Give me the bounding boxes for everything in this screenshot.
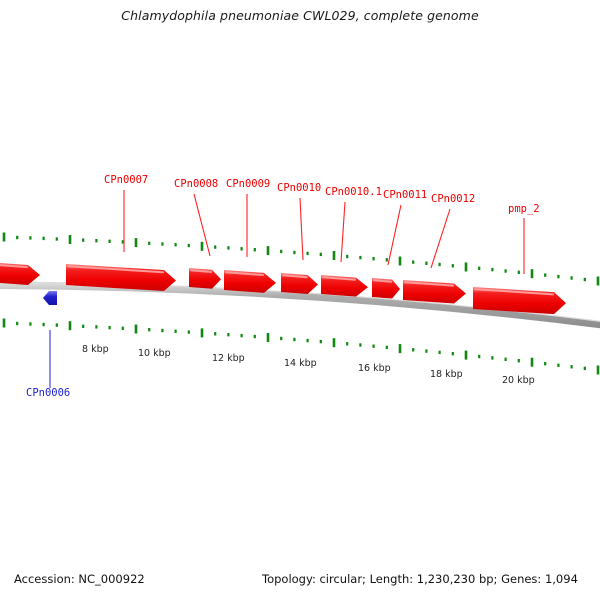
tick-minor: [214, 245, 216, 248]
tick-major: [597, 277, 600, 286]
gene-leader-line: [388, 205, 401, 265]
tick-minor: [254, 248, 256, 251]
tick-minor: [452, 264, 454, 267]
tick-minor: [505, 358, 507, 361]
tick-minor: [557, 275, 559, 278]
genome-map-canvas: Chlamydophila pneumoniae CWL029, complet…: [0, 0, 600, 600]
footer-metadata: Topology: circular; Length: 1,230,230 bp…: [262, 572, 578, 586]
tick-minor: [43, 237, 45, 240]
tick-minor: [544, 362, 546, 365]
tick-major: [267, 246, 270, 255]
tick-minor: [280, 250, 282, 253]
tick-minor: [320, 340, 322, 343]
tick-major: [267, 333, 270, 342]
tick-minor: [122, 327, 124, 330]
tick-minor: [584, 278, 586, 281]
tick-minor: [241, 247, 243, 250]
tick-minor: [412, 260, 414, 263]
tick-minor: [188, 330, 190, 333]
tick-minor: [254, 335, 256, 338]
tick-minor: [346, 342, 348, 345]
tick-major: [333, 338, 336, 347]
tick-major: [69, 321, 72, 330]
tick-minor: [439, 263, 441, 266]
tick-minor: [109, 240, 111, 243]
tick-minor: [320, 253, 322, 256]
tick-minor: [386, 346, 388, 349]
tick-minor: [359, 256, 361, 259]
tick-minor: [148, 328, 150, 331]
tick-minor: [386, 258, 388, 261]
tick-minor: [412, 348, 414, 351]
gene-leader-line: [431, 209, 450, 268]
tick-minor: [425, 262, 427, 265]
tick-minor: [82, 238, 84, 241]
tick-minor: [425, 349, 427, 352]
gene-label[interactable]: CPn0006: [26, 387, 70, 399]
tick-minor: [557, 364, 559, 367]
tick-minor: [307, 252, 309, 255]
tick-minor: [478, 355, 480, 358]
tick-minor: [518, 359, 520, 362]
tick-minor: [307, 339, 309, 342]
gene-arrow[interactable]: [43, 291, 57, 305]
tick-minor: [95, 239, 97, 242]
tick-minor: [491, 356, 493, 359]
scale-tick-label: 12 kbp: [212, 353, 245, 364]
tick-minor: [505, 269, 507, 272]
tick-minor: [452, 352, 454, 355]
scale-labels-layer: 8 kbp10 kbp12 kbp14 kbp16 kbp18 kbp20 kb…: [82, 344, 535, 386]
scale-tick-label: 16 kbp: [358, 363, 391, 374]
gene-label[interactable]: CPn0012: [431, 193, 475, 205]
tick-major: [3, 319, 6, 328]
tick-minor: [439, 351, 441, 354]
tick-minor: [478, 267, 480, 270]
tick-minor: [161, 242, 163, 245]
gene-label[interactable]: CPn0008: [174, 178, 218, 190]
tick-minor: [346, 255, 348, 258]
tick-minor: [161, 329, 163, 332]
tick-minor: [491, 268, 493, 271]
scale-tick-label: 18 kbp: [430, 369, 463, 380]
tick-minor: [373, 345, 375, 348]
tick-minor: [584, 367, 586, 370]
tick-major: [135, 238, 138, 247]
scale-tick-label: 8 kbp: [82, 344, 109, 355]
tick-minor: [43, 323, 45, 326]
gene-label[interactable]: CPn0007: [104, 174, 148, 186]
tick-minor: [29, 236, 31, 239]
gene-leader-line: [300, 198, 303, 260]
tick-major: [399, 257, 402, 266]
tick-major: [201, 242, 204, 251]
scale-tick-label: 14 kbp: [284, 358, 317, 369]
tick-major: [69, 235, 72, 244]
tick-minor: [109, 326, 111, 329]
tick-minor: [227, 333, 229, 336]
gene-label[interactable]: pmp_2: [508, 203, 540, 215]
genome-map-svg: CPn0007CPn0008CPn0009CPn0010CPn0010.1CPn…: [0, 0, 600, 600]
tick-minor: [175, 243, 177, 246]
tick-minor: [293, 338, 295, 341]
tick-major: [135, 325, 138, 334]
tick-minor: [241, 334, 243, 337]
gene-label[interactable]: CPn0011: [383, 189, 427, 201]
tick-minor: [544, 273, 546, 276]
tick-minor: [29, 322, 31, 325]
tick-minor: [293, 251, 295, 254]
tick-major: [531, 269, 534, 278]
gene-label[interactable]: CPn0009: [226, 178, 270, 190]
tick-major: [465, 263, 468, 272]
tick-minor: [188, 244, 190, 247]
tick-major: [399, 344, 402, 353]
tick-major: [597, 366, 600, 375]
tick-minor: [95, 325, 97, 328]
tick-minor: [175, 330, 177, 333]
tick-minor: [227, 246, 229, 249]
tick-minor: [280, 337, 282, 340]
tick-minor: [56, 323, 58, 326]
tick-major: [201, 328, 204, 337]
tick-minor: [56, 237, 58, 240]
tick-minor: [571, 276, 573, 279]
scale-tick-label: 20 kbp: [502, 375, 535, 386]
tick-minor: [571, 365, 573, 368]
tick-major: [465, 351, 468, 360]
gene-label[interactable]: CPn0010.1: [325, 186, 382, 198]
tick-minor: [16, 236, 18, 239]
tick-major: [531, 358, 534, 367]
tick-major: [333, 251, 336, 260]
tick-minor: [16, 322, 18, 325]
tick-minor: [518, 271, 520, 274]
tick-major: [3, 233, 6, 242]
footer-accession: Accession: NC_000922: [14, 572, 145, 586]
scale-tick-label: 10 kbp: [138, 348, 171, 359]
gene-leader-line: [341, 202, 345, 262]
gene-label[interactable]: CPn0010: [277, 182, 321, 194]
tick-minor: [359, 343, 361, 346]
tick-minor: [148, 242, 150, 245]
tick-minor: [214, 332, 216, 335]
tick-minor: [373, 257, 375, 260]
tick-minor: [82, 325, 84, 328]
